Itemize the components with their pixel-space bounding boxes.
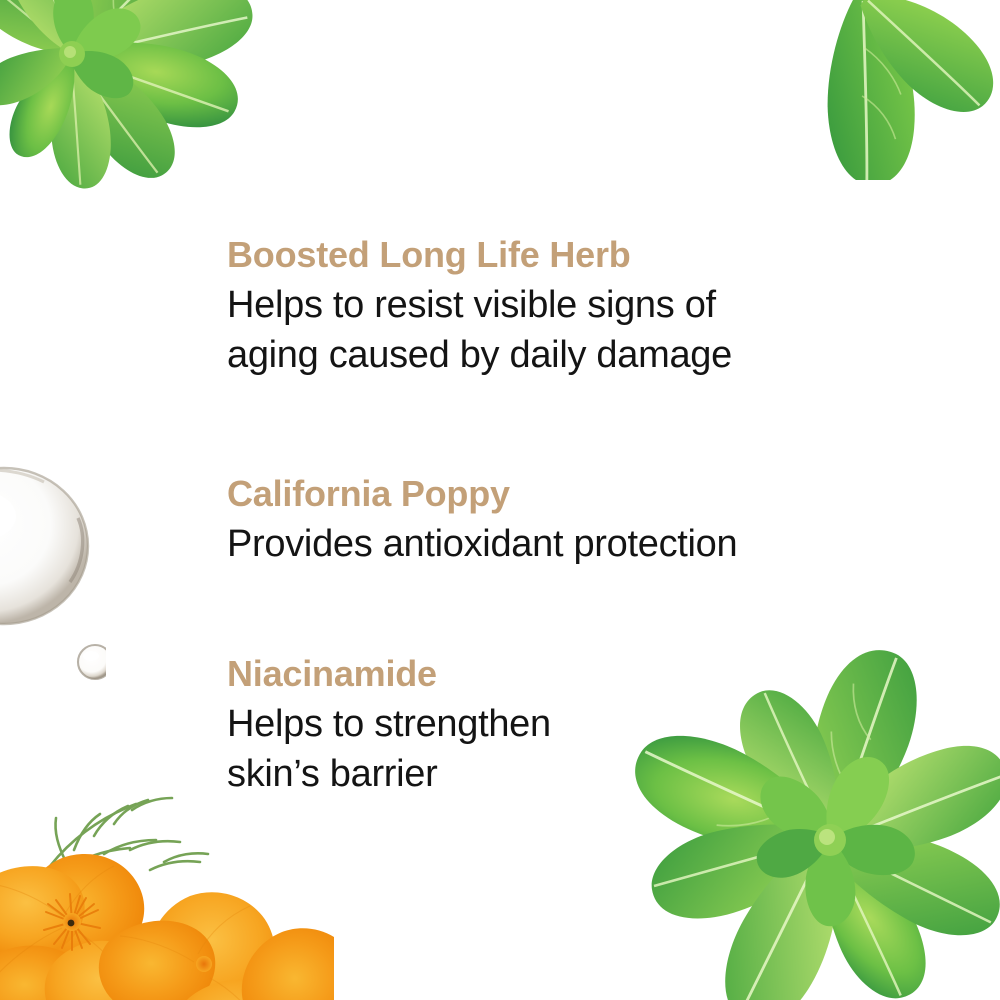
leaf-cluster-icon <box>694 0 1000 180</box>
description-line: Provides antioxidant protection <box>227 519 887 569</box>
ingredient-benefits-panel: Boosted Long Life Herb Helps to resist v… <box>0 0 1000 1000</box>
ingredient-block-niacinamide: Niacinamide Helps to strengthen skin’s b… <box>227 651 887 799</box>
ingredient-name: Niacinamide <box>227 651 887 697</box>
ingredient-list: Boosted Long Life Herb Helps to resist v… <box>227 232 887 799</box>
description-line: aging caused by daily damage <box>227 330 887 380</box>
ingredient-description: Helps to resist visible signs of aging c… <box>227 280 887 380</box>
description-line: Helps to strengthen <box>227 699 887 749</box>
description-line: skin’s barrier <box>227 749 887 799</box>
ingredient-name: California Poppy <box>227 471 887 517</box>
water-droplet-icon <box>0 452 106 692</box>
ingredient-description: Helps to strengthen skin’s barrier <box>227 699 887 799</box>
ingredient-name: Boosted Long Life Herb <box>227 232 887 278</box>
ingredient-description: Provides antioxidant protection <box>227 519 887 569</box>
description-line: Helps to resist visible signs of <box>227 280 887 330</box>
poppy-flower-icon <box>0 770 334 1000</box>
ingredient-block-california-poppy: California Poppy Provides antioxidant pr… <box>227 471 887 569</box>
ingredient-block-long-life-herb: Boosted Long Life Herb Helps to resist v… <box>227 232 887 380</box>
